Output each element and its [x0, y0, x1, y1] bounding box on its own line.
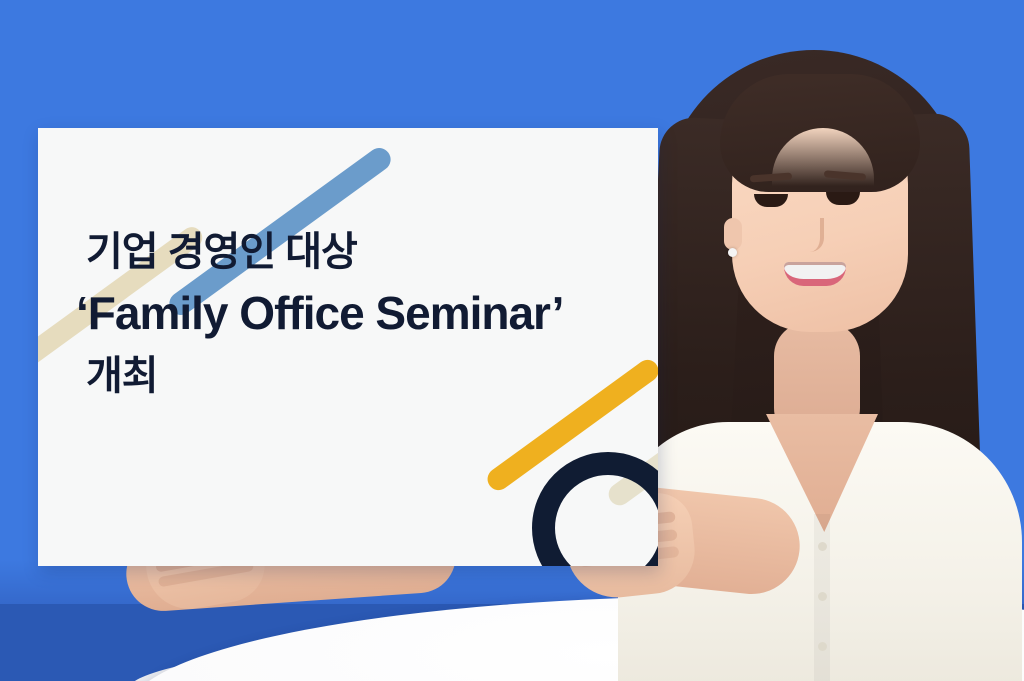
blouse-button — [818, 642, 827, 651]
blouse-button — [818, 542, 827, 551]
person-subject — [612, 22, 1024, 681]
announcement-board: 기업 경영인 대상 ‘Family Office Seminar’ 개최 NH투… — [38, 128, 658, 566]
hair-fringe — [720, 74, 920, 192]
headline-line-3: 개최 — [86, 350, 646, 402]
ear — [724, 218, 742, 250]
headline: 기업 경영인 대상 ‘Family Office Seminar’ 개최 — [86, 226, 646, 402]
smiling-mouth — [784, 262, 846, 286]
headline-line-2: ‘Family Office Seminar’ — [76, 284, 646, 344]
blouse-button — [818, 592, 827, 601]
earring — [728, 248, 737, 257]
navy-ring-icon — [532, 452, 658, 566]
headline-line-1: 기업 경영인 대상 — [86, 226, 646, 278]
scene: 기업 경영인 대상 ‘Family Office Seminar’ 개최 NH투… — [0, 0, 1024, 681]
